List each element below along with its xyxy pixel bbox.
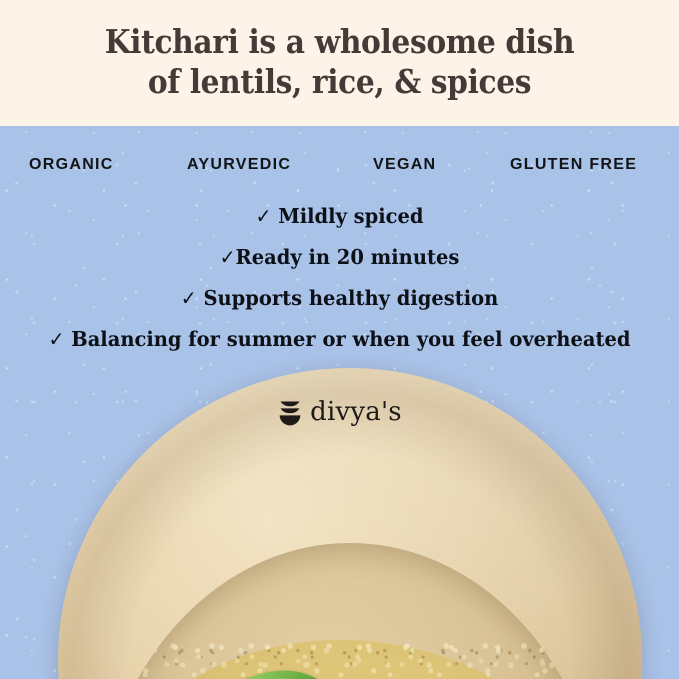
benefit-item: ✓ Supports healthy digestion xyxy=(17,278,662,319)
badge-gluten-free: GLUTEN FREE xyxy=(510,156,637,174)
kitchari-food xyxy=(93,640,607,679)
headline-line-2: of lentils, rice, & spices xyxy=(34,62,645,102)
headline-line-1: Kitchari is a wholesome dish xyxy=(34,22,645,62)
benefit-item: ✓ Mildly spiced xyxy=(17,196,662,237)
check-icon: ✓ xyxy=(220,245,236,269)
brand-name: divya's xyxy=(310,399,402,425)
benefits-list: ✓ Mildly spiced ✓Ready in 20 minutes ✓ S… xyxy=(0,196,679,360)
page-title: Kitchari is a wholesome dish of lentils,… xyxy=(34,22,645,102)
brand-logo: divya's xyxy=(0,392,679,432)
benefit-label: Supports healthy digestion xyxy=(203,286,498,310)
badge-ayurvedic: AYURVEDIC xyxy=(187,156,291,174)
certification-badges: ORGANIC AYURVEDIC VEGAN GLUTEN FREE xyxy=(0,153,679,177)
badge-vegan: VEGAN xyxy=(373,156,436,174)
benefit-label: Balancing for summer or when you feel ov… xyxy=(71,327,630,351)
benefit-label: Ready in 20 minutes xyxy=(236,245,460,269)
badge-organic: ORGANIC xyxy=(29,156,114,174)
product-infographic: divya's ✓ Mildly spiced ✓Ready in 20 min… xyxy=(0,0,679,679)
check-icon: ✓ xyxy=(181,286,197,310)
check-icon: ✓ xyxy=(49,327,65,351)
bowl-with-steam-icon xyxy=(277,399,303,426)
check-icon: ✓ xyxy=(255,204,271,228)
benefit-item: ✓ Balancing for summer or when you feel … xyxy=(17,319,662,360)
benefit-item: ✓Ready in 20 minutes xyxy=(17,237,662,278)
benefit-label: Mildly spiced xyxy=(278,204,423,228)
food-grain-texture xyxy=(93,640,607,679)
kitchari-bowl-photo xyxy=(0,330,679,679)
